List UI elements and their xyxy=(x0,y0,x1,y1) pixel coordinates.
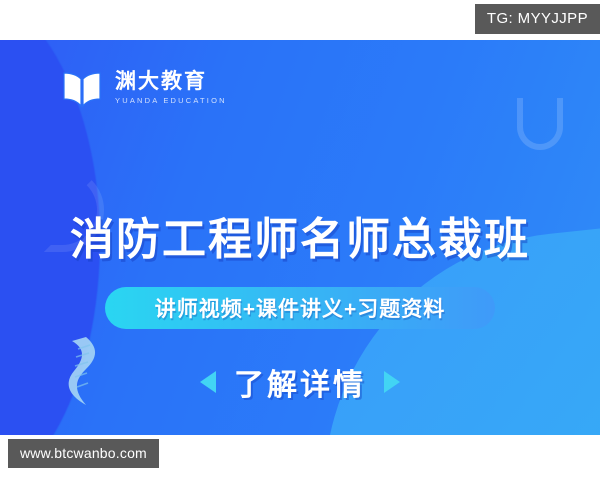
subtitle-text: 讲师视频+课件讲义+习题资料 xyxy=(155,293,446,323)
brand-logo: 渊大教育 YUANDA EDUCATION xyxy=(60,68,227,108)
triangle-left-icon xyxy=(200,371,216,393)
subtitle-pill: 讲师视频+课件讲义+习题资料 xyxy=(105,287,495,329)
cta-label[interactable]: 了解详情 xyxy=(234,360,366,404)
decorative-u-outline xyxy=(517,98,563,150)
brand-name-cn: 渊大教育 xyxy=(115,71,227,92)
promo-banner: 渊大教育 YUANDA EDUCATION 消防工程师名师总裁班 讲师视频+课件… xyxy=(0,40,600,435)
cta-group[interactable]: 了解详情 xyxy=(0,360,600,404)
triangle-right-icon xyxy=(384,371,400,393)
brand-wordmark: 渊大教育 YUANDA EDUCATION xyxy=(115,71,227,105)
telegram-badge: TG: MYYJJPP xyxy=(475,4,600,34)
brand-name-en: YUANDA EDUCATION xyxy=(115,97,227,105)
open-book-icon xyxy=(60,68,104,108)
site-watermark: www.btcwanbo.com xyxy=(8,439,159,468)
headline: 消防工程师名师总裁班 xyxy=(0,203,600,267)
